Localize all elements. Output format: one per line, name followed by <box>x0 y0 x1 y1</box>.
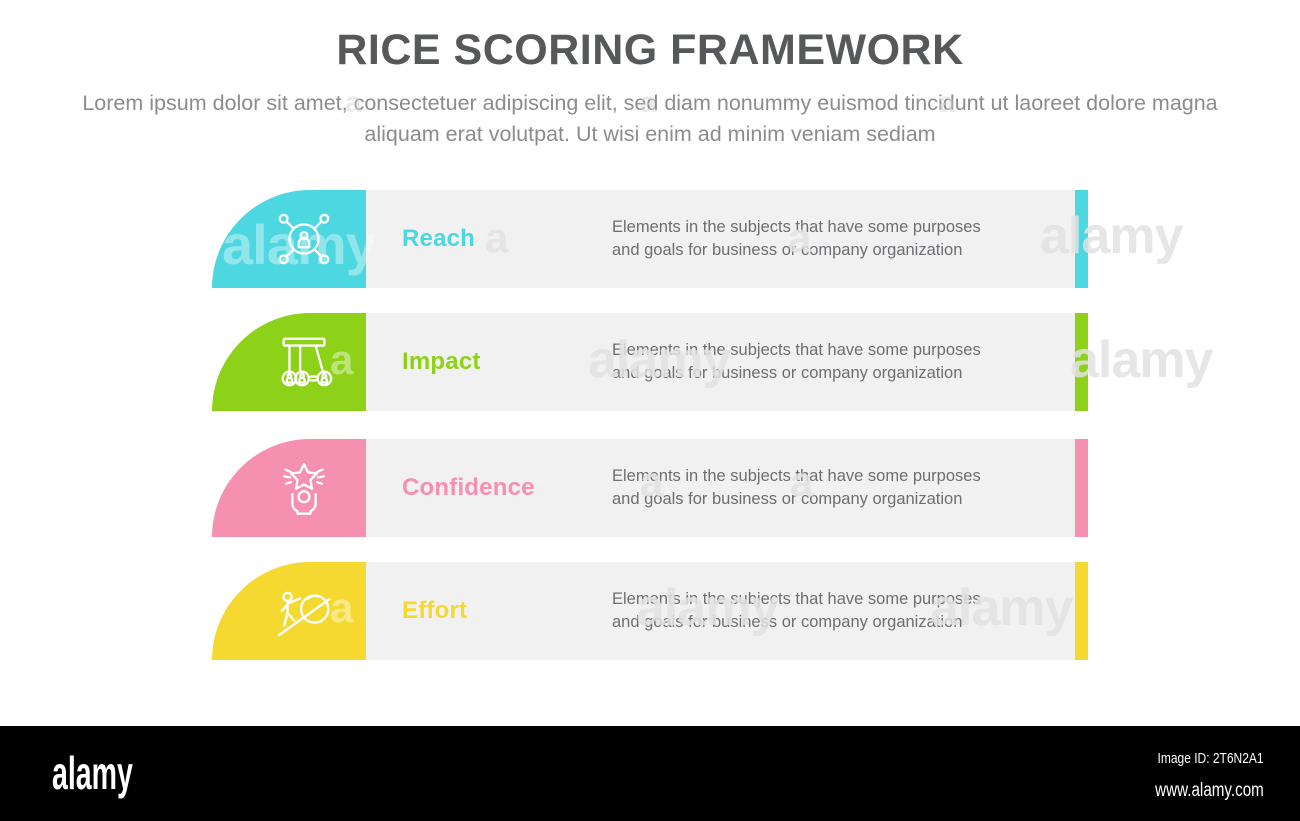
row-description: Elements in the subjects that have some … <box>612 190 1012 288</box>
row-accent-bar <box>1075 190 1088 288</box>
person-star-icon <box>273 457 335 519</box>
footer: alamy Image ID: 2T6N2A1 www.alamy.com <box>0 726 1300 821</box>
newtons-cradle-icon <box>273 331 335 393</box>
rice-row-impact[interactable]: Impact Elements in the subjects that hav… <box>212 313 1088 411</box>
row-accent-bar <box>1075 439 1088 537</box>
row-label: Confidence <box>402 439 535 537</box>
row-color-block <box>212 190 366 288</box>
image-id-label: Image ID: 2T6N2A1 <box>1158 750 1264 767</box>
row-color-block <box>212 562 366 660</box>
row-description: Elements in the subjects that have some … <box>612 439 1012 537</box>
network-person-icon <box>273 208 335 270</box>
alamy-logo: alamy <box>52 746 133 800</box>
page-subtitle: Lorem ipsum dolor sit amet, consectetuer… <box>80 88 1220 149</box>
rice-row-effort[interactable]: Effort Elements in the subjects that hav… <box>212 562 1088 660</box>
row-color-block <box>212 439 366 537</box>
rice-rows-list: Reach Elements in the subjects that have… <box>0 190 1300 690</box>
header: RICE SCORING FRAMEWORK Lorem ipsum dolor… <box>0 0 1300 170</box>
rice-row-confidence[interactable]: Confidence Elements in the subjects that… <box>212 439 1088 537</box>
row-description: Elements in the subjects that have some … <box>612 313 1012 411</box>
alamy-url: www.alamy.com <box>1155 780 1264 802</box>
row-label: Reach <box>402 190 475 288</box>
row-accent-bar <box>1075 313 1088 411</box>
row-color-block <box>212 313 366 411</box>
row-label: Impact <box>402 313 481 411</box>
row-label: Effort <box>402 562 467 660</box>
page-title: RICE SCORING FRAMEWORK <box>0 26 1300 74</box>
row-accent-bar <box>1075 562 1088 660</box>
person-pushing-ball-icon <box>273 580 335 642</box>
rice-row-reach[interactable]: Reach Elements in the subjects that have… <box>212 190 1088 288</box>
row-description: Elements in the subjects that have some … <box>612 562 1012 660</box>
